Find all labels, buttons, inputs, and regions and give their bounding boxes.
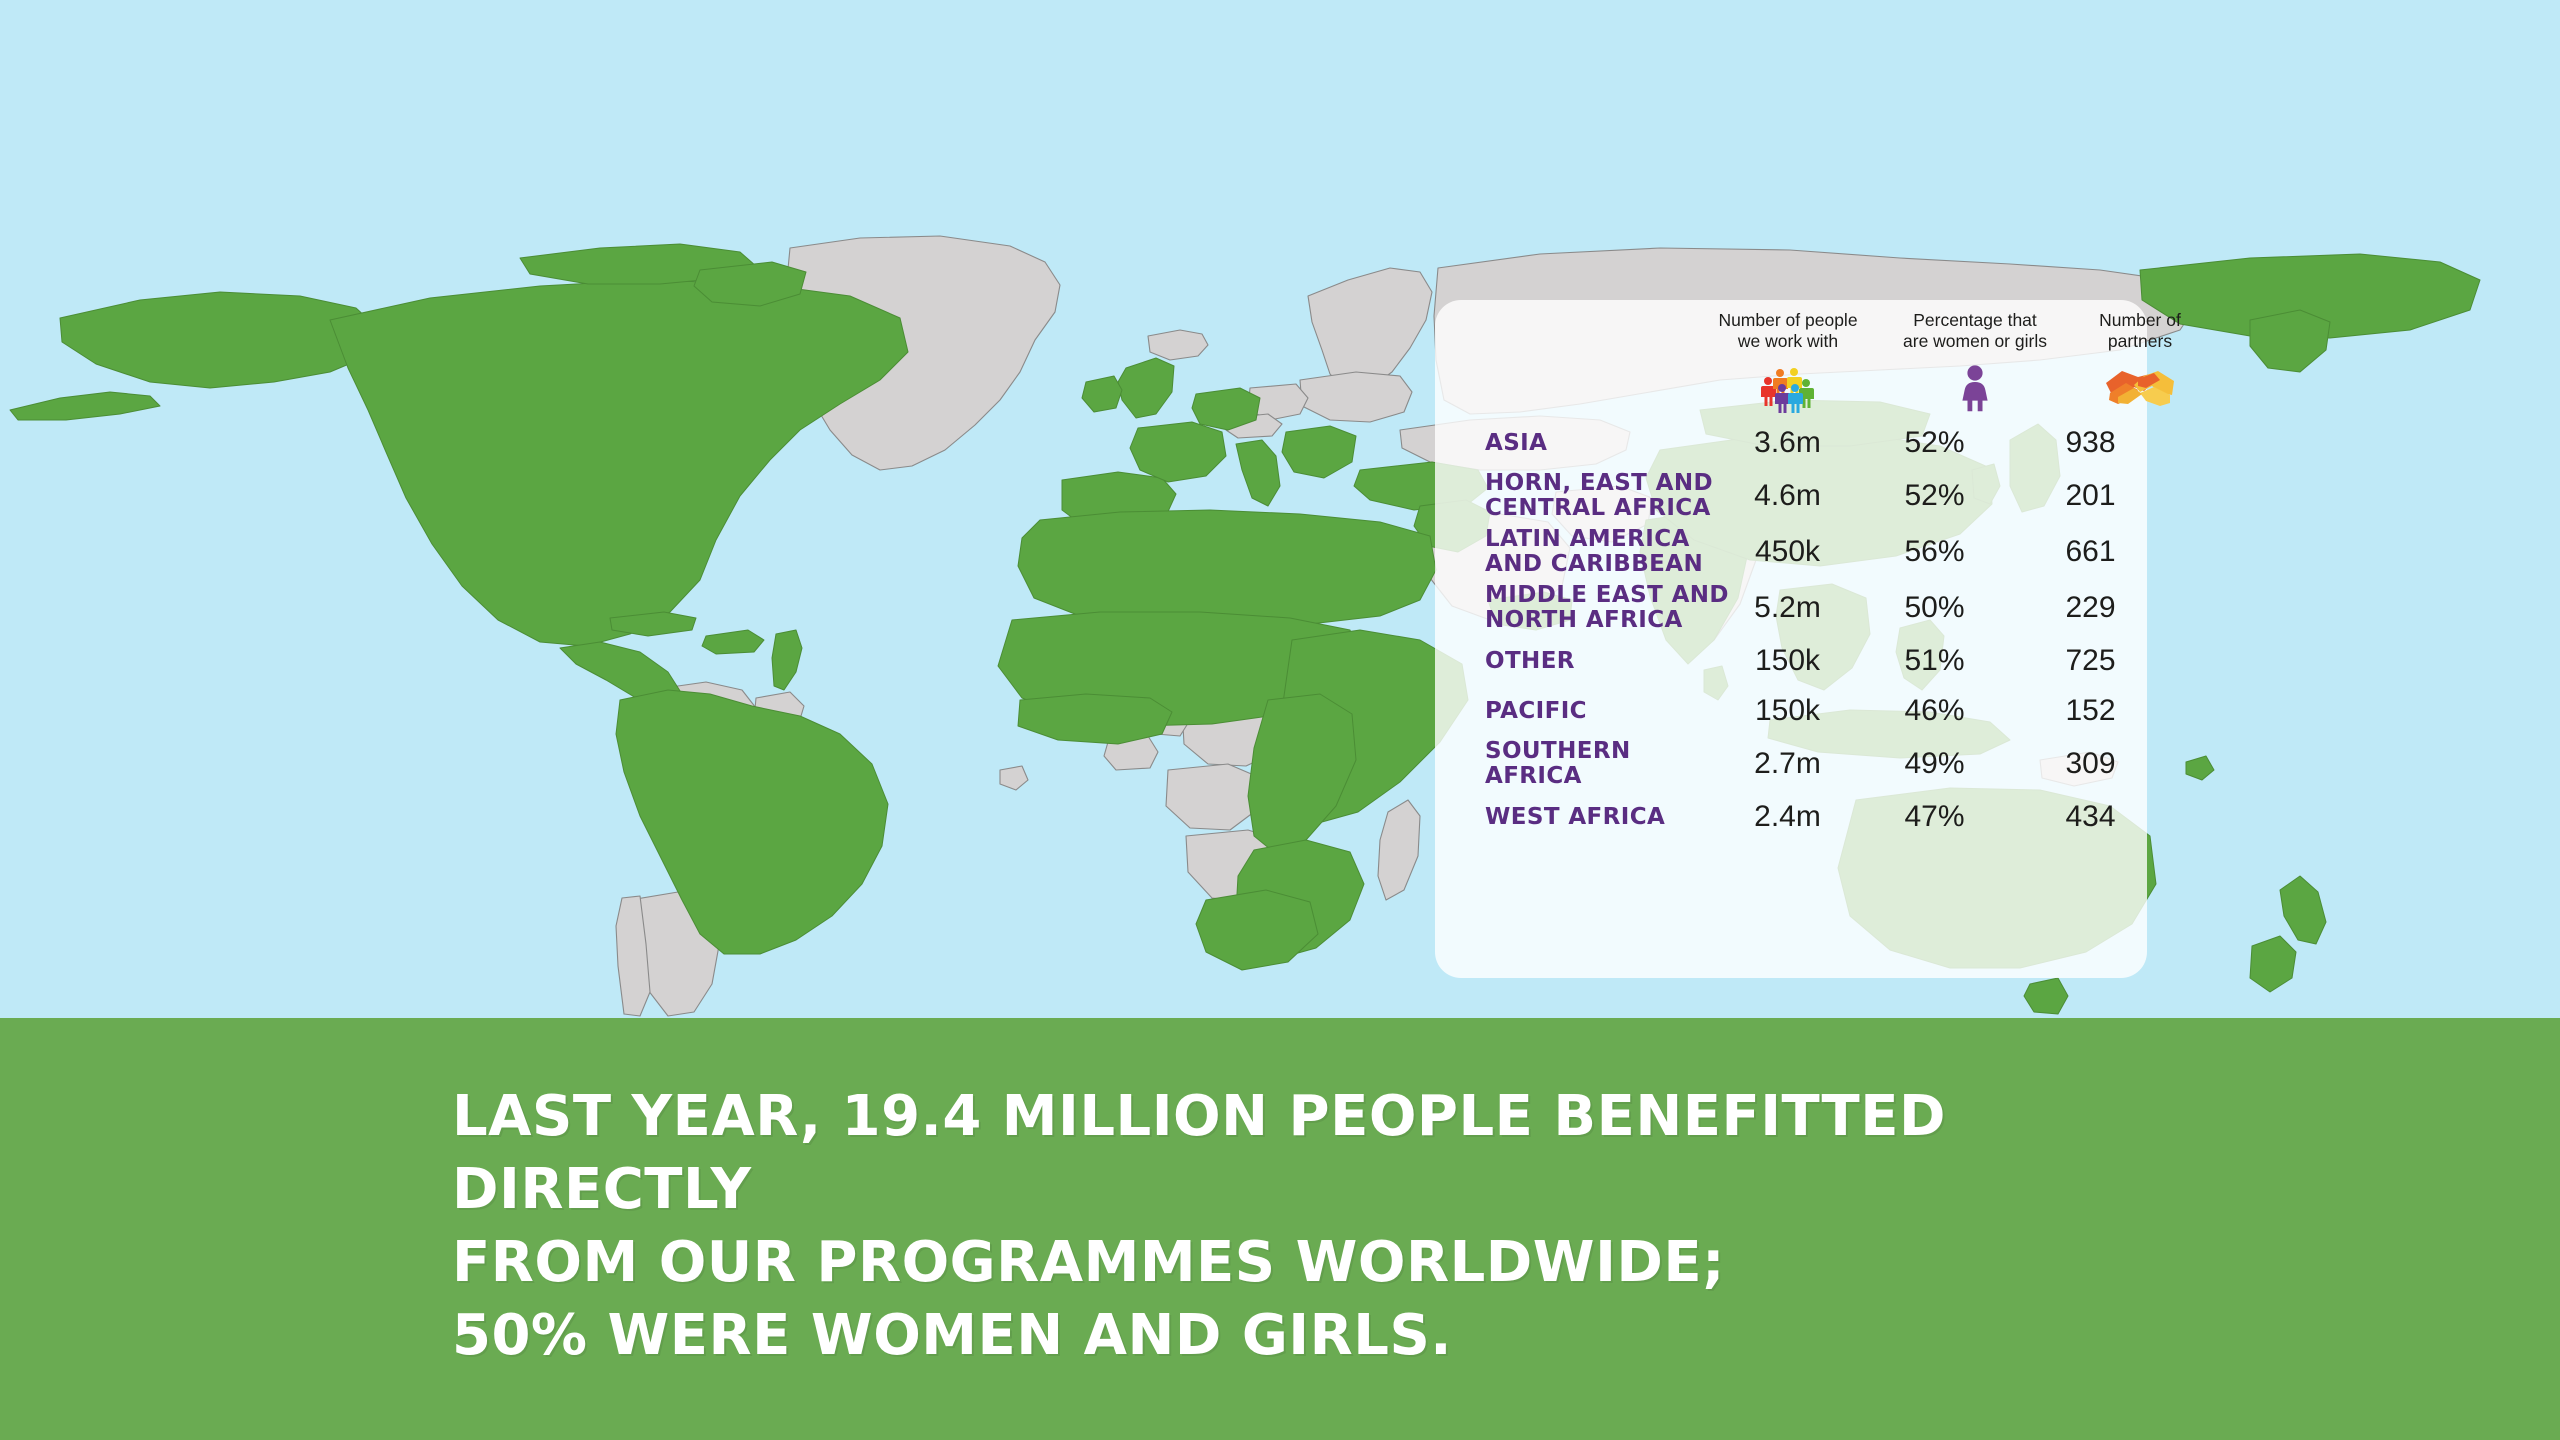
table-row: WEST AFRICA 2.4m 47% 434 — [1435, 792, 2147, 842]
row-people-value: 5.2m — [1720, 591, 1855, 625]
row-people-value: 3.6m — [1720, 426, 1855, 460]
banner-headline-text: LAST YEAR, 19.4 MILLION PEOPLE BENEFITTE… — [452, 1080, 2252, 1372]
row-women-value: 50% — [1867, 591, 2002, 625]
row-partners-value: 201 — [2023, 479, 2158, 513]
column-header-partners-line2: partners — [2065, 331, 2215, 352]
row-partners-value: 434 — [2023, 800, 2158, 834]
row-region-label: PACIFIC — [1485, 699, 1735, 724]
row-women-value: 49% — [1867, 747, 2002, 781]
table-row: LATIN AMERICA AND CARIBBEAN 450k 56% 661 — [1435, 524, 2147, 580]
row-people-value: 150k — [1720, 644, 1855, 678]
row-partners-value: 725 — [2023, 644, 2158, 678]
row-partners-value: 661 — [2023, 535, 2158, 569]
row-women-value: 46% — [1867, 694, 2002, 728]
row-partners-value: 229 — [2023, 591, 2158, 625]
world-map-container: Number of people we work with — [0, 0, 2560, 1018]
headline-banner: LAST YEAR, 19.4 MILLION PEOPLE BENEFITTE… — [0, 1018, 2560, 1440]
row-partners-value: 152 — [2023, 694, 2158, 728]
row-women-value: 47% — [1867, 800, 2002, 834]
row-region-label: ASIA — [1485, 431, 1735, 456]
column-header-women-line1: Percentage that — [1875, 310, 2075, 331]
woman-figure-icon — [1875, 361, 2075, 413]
row-region-label: HORN, EAST AND CENTRAL AFRICA — [1485, 471, 1735, 521]
infographic-canvas: Number of people we work with — [0, 0, 2560, 1440]
region-north-africa — [1018, 510, 1436, 626]
row-partners-value: 938 — [2023, 426, 2158, 460]
row-region-label: WEST AFRICA — [1485, 805, 1735, 830]
statistics-card: Number of people we work with — [1435, 300, 2147, 978]
row-people-value: 2.4m — [1720, 800, 1855, 834]
row-partners-value: 309 — [2023, 747, 2158, 781]
row-people-value: 2.7m — [1720, 747, 1855, 781]
table-row: PACIFIC 150k 46% 152 — [1435, 686, 2147, 736]
column-header-people-line2: we work with — [1693, 331, 1883, 352]
table-row: SOUTHERN AFRICA 2.7m 49% 309 — [1435, 736, 2147, 792]
column-header-women: Percentage that are women or girls — [1875, 310, 2075, 413]
row-women-value: 51% — [1867, 644, 2002, 678]
group-of-people-icon — [1693, 361, 1883, 413]
row-people-value: 450k — [1720, 535, 1855, 569]
table-row: MIDDLE EAST AND NORTH AFRICA 5.2m 50% 22… — [1435, 580, 2147, 636]
row-women-value: 56% — [1867, 535, 2002, 569]
table-row: HORN, EAST AND CENTRAL AFRICA 4.6m 52% 2… — [1435, 468, 2147, 524]
row-women-value: 52% — [1867, 479, 2002, 513]
handshake-icon — [2065, 361, 2215, 413]
table-row: ASIA 3.6m 52% 938 — [1435, 418, 2147, 468]
row-region-label: OTHER — [1485, 649, 1735, 674]
column-header-women-line2: are women or girls — [1875, 331, 2075, 352]
column-header-people: Number of people we work with — [1693, 310, 1883, 413]
statistics-table: ASIA 3.6m 52% 938 HORN, EAST AND CENTRAL… — [1435, 418, 2147, 842]
world-map-svg — [0, 0, 2560, 1018]
row-region-label: MIDDLE EAST AND NORTH AFRICA — [1485, 583, 1735, 633]
table-row: OTHER 150k 51% 725 — [1435, 636, 2147, 686]
row-region-label: SOUTHERN AFRICA — [1485, 739, 1735, 789]
row-women-value: 52% — [1867, 426, 2002, 460]
column-header-people-line1: Number of people — [1693, 310, 1883, 331]
column-header-partners: Number of partners — [2065, 310, 2215, 413]
row-people-value: 150k — [1720, 694, 1855, 728]
row-region-label: LATIN AMERICA AND CARIBBEAN — [1485, 527, 1735, 577]
row-people-value: 4.6m — [1720, 479, 1855, 513]
column-header-partners-line1: Number of — [2065, 310, 2215, 331]
